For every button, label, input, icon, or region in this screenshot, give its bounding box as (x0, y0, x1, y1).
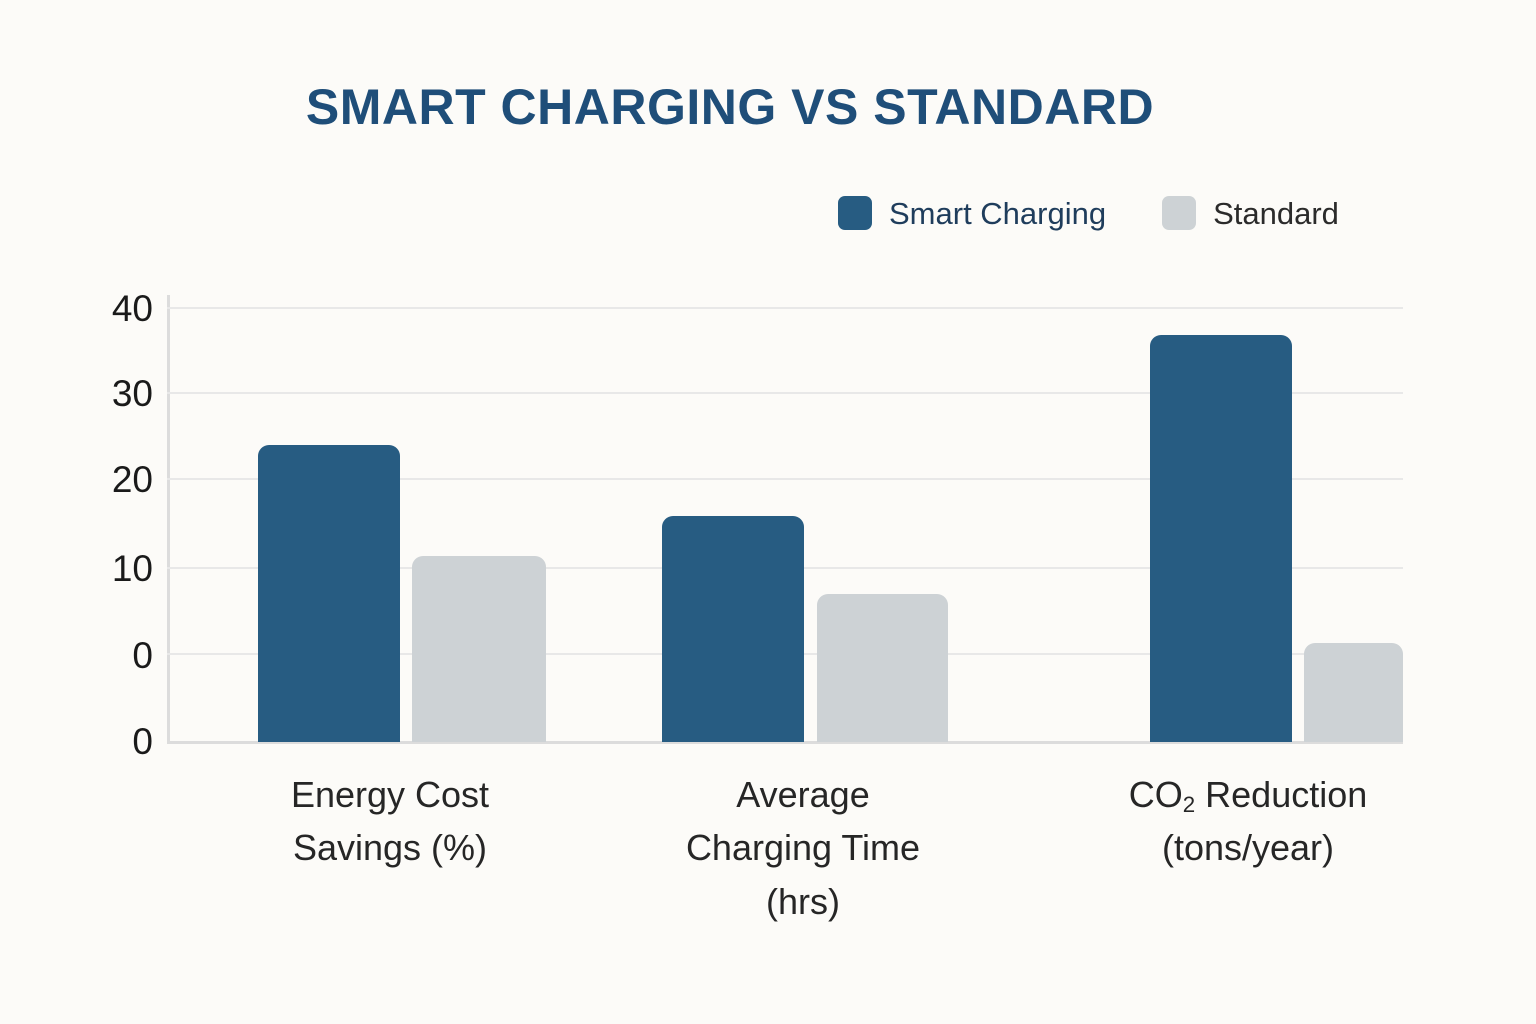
y-tick-label-10: 10 (33, 550, 153, 587)
plot-area (167, 295, 1403, 742)
y-tick-label-0-grid: 0 (33, 637, 153, 674)
x-category-label-line: Charging Time (628, 821, 978, 874)
legend-swatch-standard (1162, 196, 1196, 230)
x-category-label-line: Savings (%) (215, 821, 565, 874)
legend-label-smart-charging: Smart Charging (889, 198, 1106, 229)
y-tick-label-40: 40 (33, 290, 153, 327)
bar-smart-charging-co2-reduction[interactable] (1150, 335, 1292, 742)
x-category-label-line: (tons/year) (1073, 821, 1423, 874)
x-category-label-line-co2: CO2 Reduction (1073, 768, 1423, 821)
bar-standard-energy-cost-savings[interactable] (412, 556, 546, 742)
x-category-label-line: (hrs) (628, 875, 978, 928)
legend-item-smart-charging[interactable]: Smart Charging (838, 196, 1106, 230)
bar-smart-charging-energy-cost-savings[interactable] (258, 445, 400, 742)
x-category-label-average-charging-time: Average Charging Time (hrs) (628, 768, 978, 928)
bar-standard-average-charging-time[interactable] (817, 594, 948, 742)
x-category-label-line: Average (628, 768, 978, 821)
page-title: SMART CHARGING VS STANDARD (0, 78, 1460, 136)
bar-smart-charging-average-charging-time[interactable] (662, 516, 804, 742)
y-tick-label-30: 30 (33, 375, 153, 412)
gridline-40 (167, 307, 1403, 309)
legend-swatch-smart-charging (838, 196, 872, 230)
x-category-label-line: Energy Cost (215, 768, 565, 821)
chart-legend: Smart Charging Standard (838, 196, 1339, 230)
x-category-label-energy-cost-savings: Energy Cost Savings (%) (215, 768, 565, 875)
bar-standard-co2-reduction[interactable] (1304, 643, 1403, 742)
x-category-label-co2-reduction: CO2 Reduction (tons/year) (1073, 768, 1423, 875)
y-tick-label-20: 20 (33, 461, 153, 498)
y-tick-label-0-origin: 0 (33, 723, 153, 760)
legend-label-standard: Standard (1213, 198, 1339, 229)
legend-item-standard[interactable]: Standard (1162, 196, 1339, 230)
